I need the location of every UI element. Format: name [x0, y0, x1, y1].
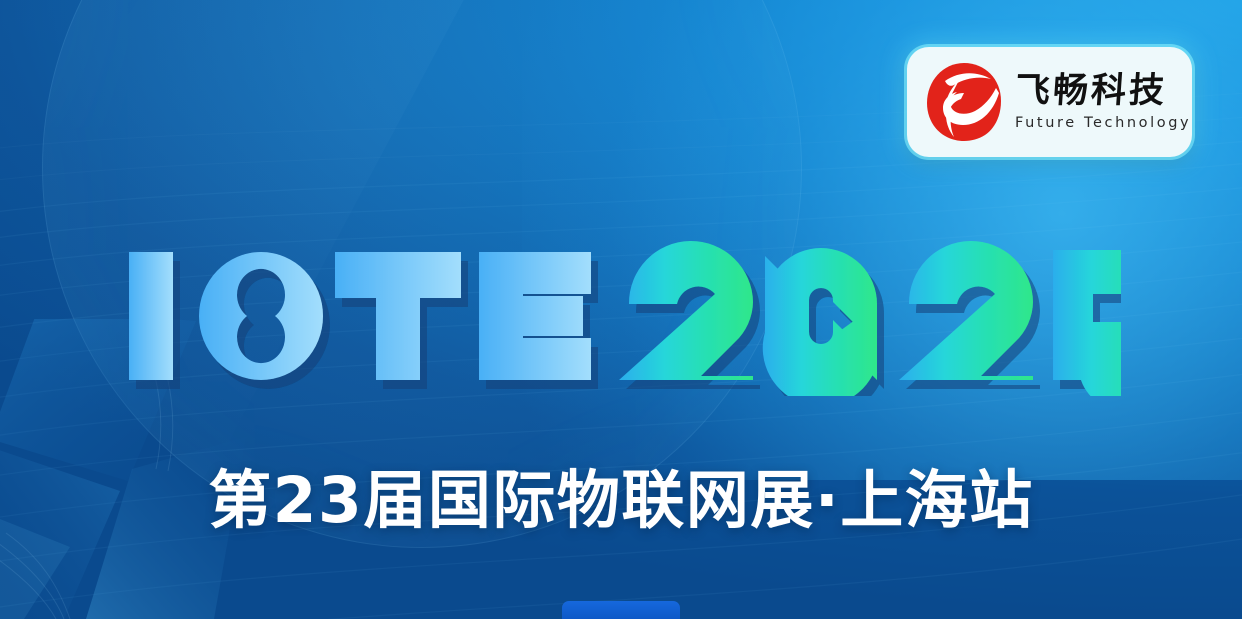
subtitle-text: 第23届国际物联网展·上海站: [0, 450, 1242, 541]
headline-word-iote: [129, 252, 591, 380]
feichang-logo-icon: [921, 59, 1007, 145]
logo-company-name-cn: 飞畅科技: [1014, 73, 1193, 110]
headline-artwork: [121, 236, 1121, 396]
headline-iote-2025: [0, 236, 1242, 396]
company-logo-badge[interactable]: 飞畅科技 Future Technology: [907, 47, 1192, 157]
logo-text-block: 飞畅科技 Future Technology: [1015, 73, 1191, 131]
bottom-center-tab: [562, 601, 680, 619]
logo-company-name-en: Future Technology: [1015, 115, 1191, 131]
headline-word-2025: [619, 241, 1121, 396]
iote-2025-banner: 飞畅科技 Future Technology: [0, 0, 1242, 619]
